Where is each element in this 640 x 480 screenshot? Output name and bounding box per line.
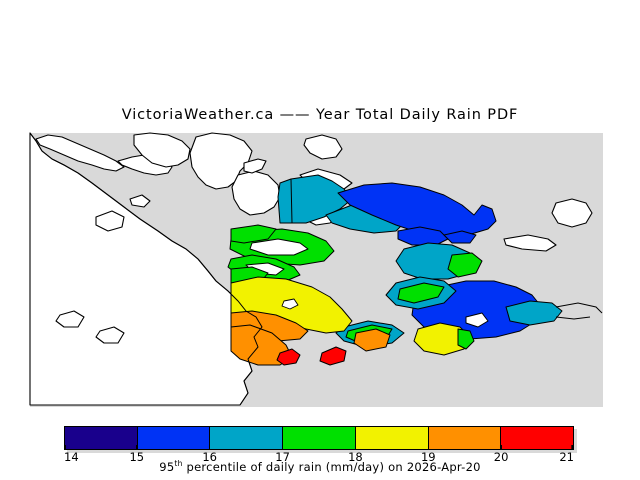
colorbar-caption: 95th percentile of daily rain (mm/day) o…: [0, 459, 640, 474]
colorbar-segment-20-21[interactable]: [501, 427, 573, 449]
colorbar-segment-18-19[interactable]: [356, 427, 429, 449]
caption-percentile-number: 95: [159, 460, 174, 474]
caption-percentile-suffix: th: [174, 459, 182, 468]
colorbar-segment-14-15[interactable]: [65, 427, 138, 449]
caption-text: percentile of daily rain (mm/day) on 202…: [183, 460, 481, 474]
map-svg: [0, 131, 640, 407]
colorbar[interactable]: [64, 426, 574, 450]
colorbar-segment-16-17[interactable]: [210, 427, 283, 449]
weather-map-page: VictoriaWeather.ca —— Year Total Daily R…: [0, 0, 640, 480]
region-teal-far-right: [506, 301, 562, 325]
region-saanich-band: [278, 179, 292, 223]
page-title: VictoriaWeather.ca —— Year Total Daily R…: [0, 107, 640, 123]
colorbar-segment-17-18[interactable]: [283, 427, 356, 449]
colorbar-segment-15-16[interactable]: [138, 427, 211, 449]
map-canvas[interactable]: [0, 131, 640, 407]
colorbar-segment-19-20[interactable]: [429, 427, 502, 449]
